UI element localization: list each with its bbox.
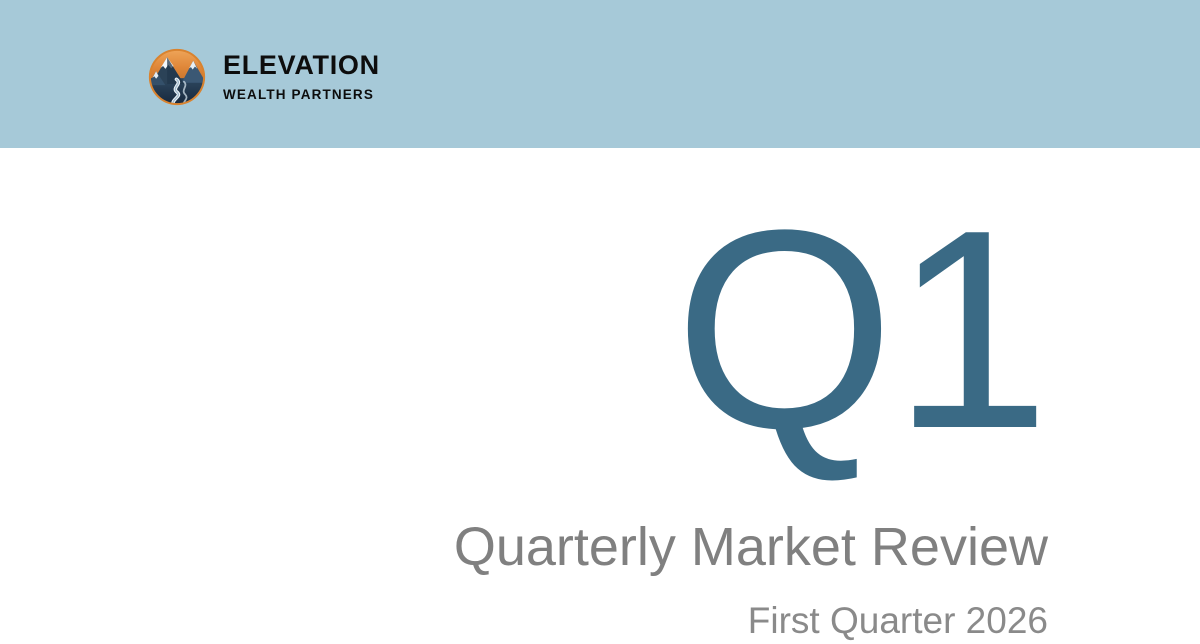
mountain-river-circle-logo-icon — [148, 48, 206, 106]
quarter-mark: Q1 — [148, 148, 1048, 471]
brand-name: ELEVATION — [223, 52, 380, 79]
brand-text: ELEVATION WEALTH PARTNERS — [223, 52, 380, 102]
brand-lockup: ELEVATION WEALTH PARTNERS — [148, 48, 380, 106]
title-slide: ELEVATION WEALTH PARTNERS Q1 Quarterly M… — [0, 0, 1200, 644]
title-block: Q1 Quarterly Market Review First Quarter… — [148, 148, 1048, 639]
page-subtitle: First Quarter 2026 — [148, 574, 1048, 639]
header-band: ELEVATION WEALTH PARTNERS — [0, 0, 1200, 148]
brand-tagline: WEALTH PARTNERS — [223, 88, 380, 102]
